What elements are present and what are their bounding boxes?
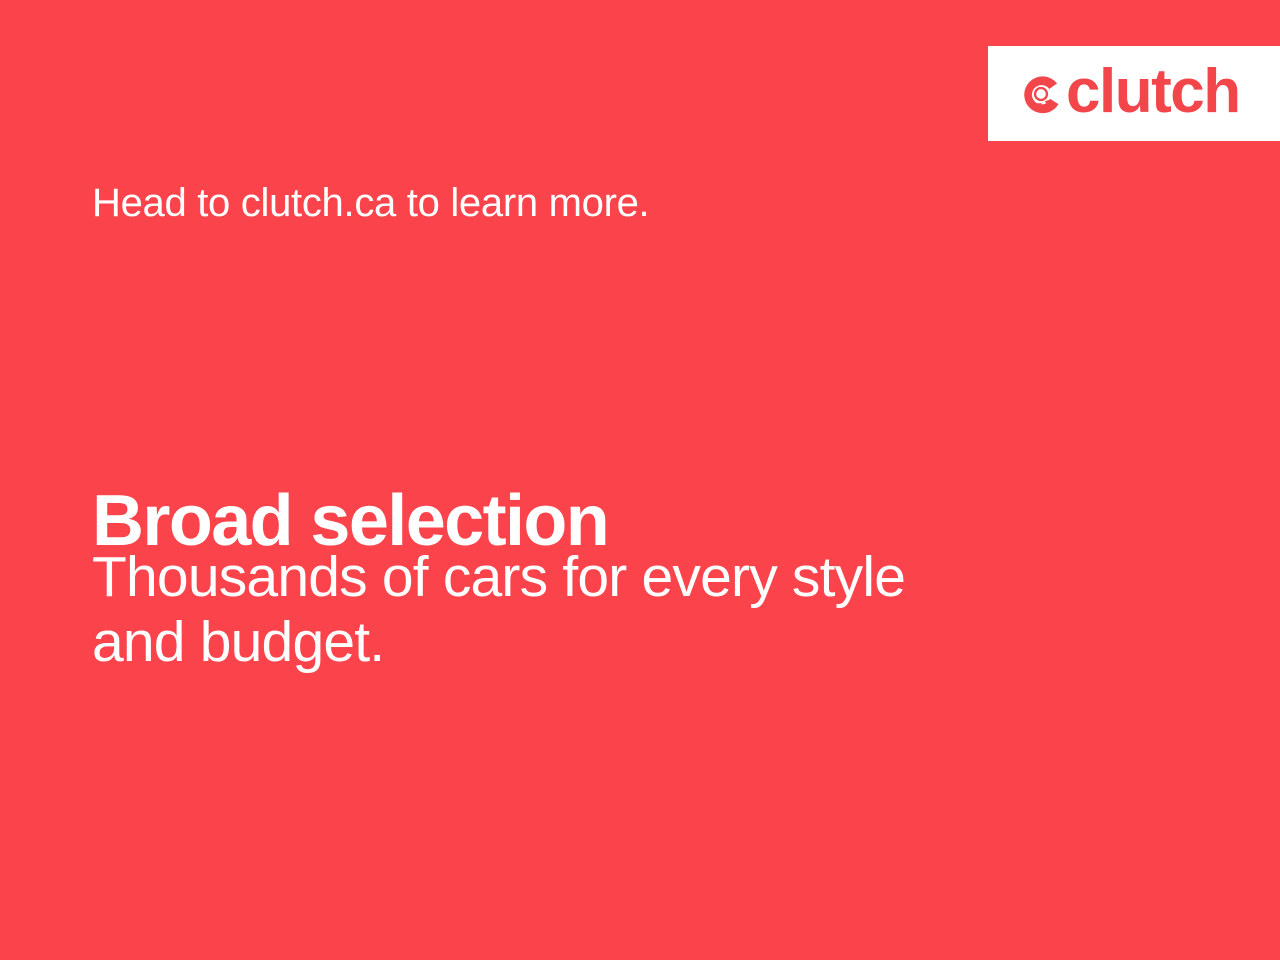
subtitle-text: Thousands of cars for every style and bu… — [92, 545, 1052, 675]
logo-lockup: clutch — [1018, 64, 1240, 124]
subtitle-line-2: and budget. — [92, 610, 1052, 675]
clutch-wordmark: clutch — [1066, 61, 1240, 123]
promo-slide: clutch Head to clutch.ca to learn more. … — [0, 0, 1280, 960]
tagline-text: Head to clutch.ca to learn more. — [92, 180, 649, 227]
subtitle-line-1: Thousands of cars for every style — [92, 545, 1052, 610]
clutch-logo-badge[interactable]: clutch — [988, 46, 1280, 141]
clutch-c-icon — [1018, 71, 1064, 117]
